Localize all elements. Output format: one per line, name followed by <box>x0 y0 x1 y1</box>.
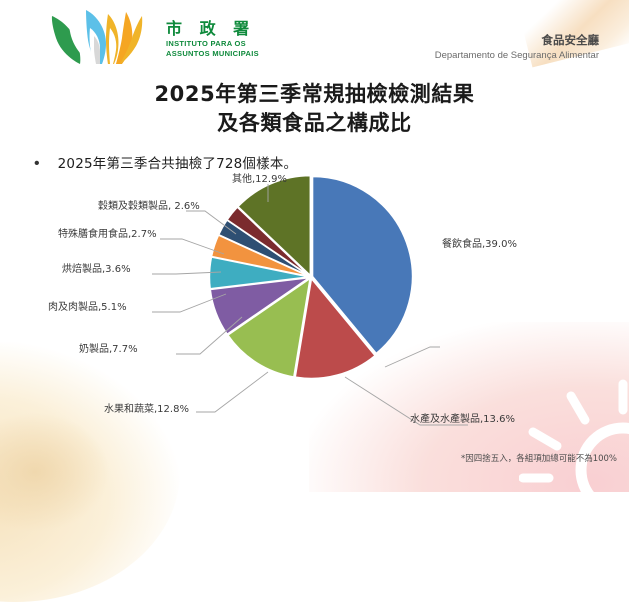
page-title-line-2: 及各類食品之構成比 <box>0 109 629 138</box>
iam-logo-text: 市 政 署 INSTITUTO PARA OS ASSUNTOS MUNICIP… <box>166 17 259 58</box>
pie-slice-group <box>209 175 412 378</box>
pie-chart-svg <box>0 172 629 462</box>
pie-label-catering: 餐飲食品,39.0% <box>442 239 517 251</box>
logo-chinese-name: 市 政 署 <box>166 21 259 37</box>
bullet-marker: • <box>34 156 40 172</box>
pie-label-special-diet: 特殊膳食用食品,2.7% <box>58 229 157 241</box>
pie-label-meat: 肉及肉製品,5.1% <box>48 302 127 314</box>
footnote: *因四捨五入，各組項加總可能不為100% <box>461 452 617 464</box>
bullet-text: 2025年第三季合共抽檢了728個樣本。 <box>58 152 298 172</box>
pie-label-bakery: 烘焙製品,3.6% <box>62 264 131 276</box>
department-block: 食品安全廳 Departamento de Segurança Alimenta… <box>435 32 599 61</box>
pie-label-other: 其他,12.9% <box>232 174 287 186</box>
leader-line <box>385 347 440 367</box>
iam-leaf-logo-icon <box>46 6 158 68</box>
iam-logo-block: 市 政 署 INSTITUTO PARA OS ASSUNTOS MUNICIP… <box>46 6 259 68</box>
department-name-chinese: 食品安全廳 <box>435 32 599 48</box>
pie-label-dairy: 奶製品,7.7% <box>79 344 138 356</box>
slide-header: 市 政 署 INSTITUTO PARA OS ASSUNTOS MUNICIP… <box>0 0 629 72</box>
page-title-line-1: 2025年第三季常規抽檢檢測結果 <box>0 80 629 109</box>
leader-line <box>196 372 268 412</box>
pie-label-fruit-veg: 水果和蔬菜,12.8% <box>104 404 189 416</box>
pie-label-aquatic: 水產及水產製品,13.6% <box>410 414 515 426</box>
logo-portuguese-line2: ASSUNTOS MUNICIPAIS <box>166 50 259 58</box>
pie-chart: 其他,12.9% 穀類及穀類製品, 2.6% 特殊膳食用食品,2.7% 烘焙製品… <box>0 172 629 462</box>
page-title: 2025年第三季常規抽檢檢測結果 及各類食品之構成比 <box>0 80 629 138</box>
pie-label-cereals: 穀類及穀類製品, 2.6% <box>98 201 200 213</box>
logo-portuguese-line1: INSTITUTO PARA OS <box>166 40 259 48</box>
bullet-item: • 2025年第三季合共抽檢了728個樣本。 <box>34 152 629 172</box>
department-name-portuguese: Departamento de Segurança Alimentar <box>435 50 599 61</box>
